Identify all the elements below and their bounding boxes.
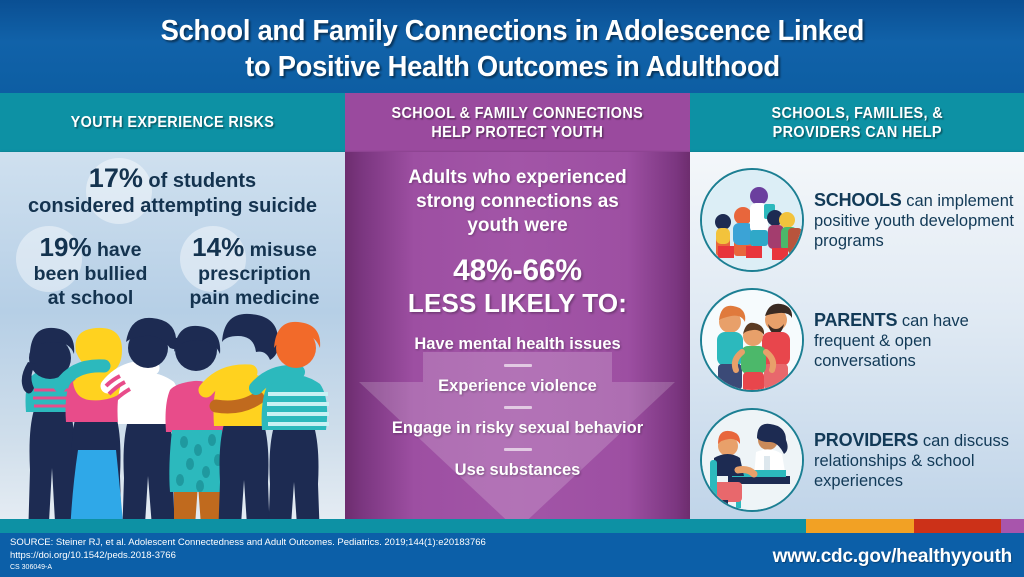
outcome-separator-2: [504, 406, 532, 409]
color-bar-segment-teal: [0, 519, 806, 533]
source-line-1: SOURCE: Steiner RJ, et al. Adolescent Co…: [10, 537, 486, 550]
footer-bar: SOURCE: Steiner RJ, et al. Adolescent Co…: [0, 533, 1024, 577]
cs-number: CS 306049-A: [10, 564, 52, 571]
risk-stat-bullied-value: 19%: [40, 232, 92, 262]
column-left-risks: 17% of students considered attempting su…: [0, 152, 345, 532]
page-title-line-1: School and Family Connections in Adolesc…: [160, 13, 863, 49]
tip-providers-lead: PROVIDERS: [814, 430, 918, 450]
risk-stat-suicide-value: 17%: [89, 163, 143, 193]
outcome-item-2: Experience violence: [367, 376, 668, 397]
tip-schools-lead: SCHOOLS: [814, 190, 902, 210]
risk-stat-rx-misuse-label2: prescription: [198, 263, 311, 285]
tip-providers-text: PROVIDERS can discuss relationships & sc…: [814, 430, 1014, 491]
outcome-item-3: Engage in risky sexual behavior: [367, 418, 668, 439]
column-header-middle-line-1: SCHOOL & FAMILY CONNECTIONS: [392, 105, 644, 122]
middle-lead-line-3: youth were: [467, 215, 567, 236]
tip-parents-text: PARENTS can have frequent & open convers…: [814, 310, 1014, 371]
tip-schools: SCHOOLS can implement positive youth dev…: [700, 160, 1014, 280]
group-of-teens-hugging-illustration: [0, 290, 345, 532]
outcome-item-1: Have mental health issues: [367, 334, 668, 355]
column-header-middle-line-2: HELP PROTECT YOUTH: [432, 124, 604, 141]
title-bar: School and Family Connections in Adolesc…: [0, 0, 1024, 93]
students-in-classroom-circle-icon: [700, 168, 804, 272]
column-header-right-line-1: SCHOOLS, FAMILIES, &: [771, 105, 943, 122]
column-middle-protection: Adults who experienced strong connection…: [345, 152, 690, 532]
column-header-left: YOUTH EXPERIENCE RISKS: [0, 93, 345, 152]
outcome-item-4: Use substances: [367, 460, 668, 481]
column-right-actions: SCHOOLS can implement positive youth dev…: [690, 152, 1024, 532]
risk-stat-bullied-label: have: [97, 239, 141, 261]
tip-parents: PARENTS can have frequent & open convers…: [700, 280, 1014, 400]
risk-stat-rx-misuse-label3: pain medicine: [189, 287, 319, 309]
middle-big-stat-sub: LESS LIKELY TO:: [367, 288, 668, 318]
source-doi-link[interactable]: https://doi.org/10.1542/peds.2018-3766: [10, 550, 486, 563]
middle-content: Adults who experienced strong connection…: [345, 152, 690, 481]
risk-stat-rx-misuse: 14% misuse prescription pain medicine: [180, 235, 330, 310]
cdc-website-url[interactable]: www.cdc.gov/healthyyouth: [773, 546, 1012, 568]
column-header-right-text: SCHOOLS, FAMILIES, & PROVIDERS CAN HELP: [771, 104, 943, 142]
risk-stat-bullied-label2: been bullied: [34, 263, 148, 285]
risk-stat-suicide-label: of students: [148, 170, 256, 192]
risk-stat-bullied: 19% have been bullied at school: [16, 235, 166, 310]
risk-stat-rx-misuse-label: misuse: [250, 239, 317, 261]
outcome-separator-1: [504, 364, 532, 367]
risk-stat-rx-misuse-value: 14%: [192, 232, 244, 262]
source-citation: SOURCE: Steiner RJ, et al. Adolescent Co…: [10, 537, 486, 562]
infographic-poster: School and Family Connections in Adolesc…: [0, 0, 1024, 577]
color-bar-segment-purple: [1001, 519, 1024, 533]
column-header-middle-text: SCHOOL & FAMILY CONNECTIONS HELP PROTECT…: [392, 104, 644, 142]
middle-lead-line-1: Adults who experienced: [408, 167, 627, 188]
outcome-separator-3: [504, 448, 532, 451]
columns-body: 17% of students considered attempting su…: [0, 152, 1024, 532]
column-header-right-line-2: PROVIDERS CAN HELP: [772, 124, 941, 141]
column-header-left-text: YOUTH EXPERIENCE RISKS: [71, 113, 275, 132]
parents-with-child-circle-icon: [700, 288, 804, 392]
risk-stats-list: 17% of students considered attempting su…: [0, 152, 345, 310]
tip-providers: PROVIDERS can discuss relationships & sc…: [700, 400, 1014, 520]
middle-big-stat: 48%-66%: [367, 254, 668, 288]
risk-stat-bullied-label3: at school: [48, 287, 134, 309]
middle-outcomes-list: Have mental health issues Experience vio…: [367, 334, 668, 481]
color-bar-segment-orange: [806, 519, 914, 533]
middle-lead-line-2: strong connections as: [416, 191, 619, 212]
column-header-middle: SCHOOL & FAMILY CONNECTIONS HELP PROTECT…: [345, 93, 690, 152]
tip-parents-lead: PARENTS: [814, 310, 897, 330]
provider-with-patient-circle-icon: [700, 408, 804, 512]
bottom-color-bar: [0, 519, 1024, 533]
page-title-line-2: to Positive Health Outcomes in Adulthood: [245, 49, 780, 85]
column-header-right: SCHOOLS, FAMILIES, & PROVIDERS CAN HELP: [690, 93, 1024, 152]
middle-lead-text: Adults who experienced strong connection…: [367, 166, 668, 238]
tip-schools-text: SCHOOLS can implement positive youth dev…: [814, 190, 1014, 251]
color-bar-segment-red: [914, 519, 1001, 533]
risk-stat-suicide: 17% of students considered attempting su…: [0, 166, 345, 219]
column-headers: YOUTH EXPERIENCE RISKS SCHOOL & FAMILY C…: [0, 93, 1024, 152]
risk-stat-suicide-label2: considered attempting suicide: [28, 195, 317, 217]
risk-stats-pair: 19% have been bullied at school 14% misu…: [0, 235, 345, 310]
